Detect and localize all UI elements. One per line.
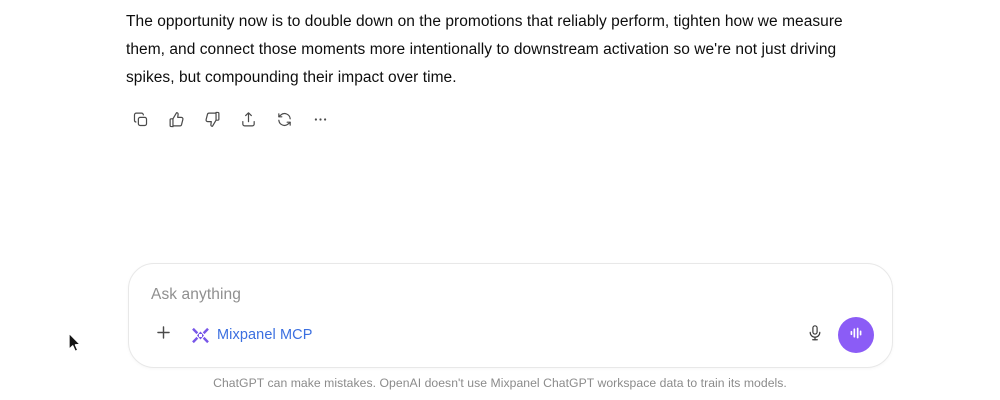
assistant-message-text: The opportunity now is to double down on…	[126, 8, 886, 92]
mixpanel-mcp-chip[interactable]: Mixpanel MCP	[187, 323, 316, 348]
thumbs-up-button[interactable]	[162, 105, 190, 133]
mixpanel-logo-icon	[191, 326, 210, 345]
microphone-icon	[806, 324, 824, 347]
assistant-message: The opportunity now is to double down on…	[126, 8, 886, 92]
copy-button[interactable]	[126, 105, 154, 133]
mixpanel-mcp-label: Mixpanel MCP	[217, 327, 312, 343]
more-options-button[interactable]	[306, 105, 334, 133]
message-composer[interactable]: Ask anything Mixpa	[128, 263, 893, 368]
mouse-cursor	[68, 332, 82, 353]
waveform-icon	[846, 323, 866, 348]
thumbs-down-icon	[204, 111, 221, 128]
regenerate-button[interactable]	[270, 105, 298, 133]
share-button[interactable]	[234, 105, 262, 133]
dictate-button[interactable]	[800, 320, 830, 350]
regenerate-icon	[276, 111, 293, 128]
more-options-icon	[312, 111, 329, 128]
share-icon	[240, 111, 257, 128]
composer-toolbar: Mixpanel MCP	[129, 315, 892, 355]
voice-mode-button[interactable]	[838, 317, 874, 353]
message-actions-toolbar	[126, 105, 334, 133]
composer-input-wrapper[interactable]: Ask anything	[151, 284, 870, 306]
copy-icon	[132, 111, 149, 128]
message-input[interactable]: Ask anything	[151, 284, 870, 306]
thumbs-down-button[interactable]	[198, 105, 226, 133]
disclaimer-text: ChatGPT can make mistakes. OpenAI doesn'…	[0, 376, 1000, 390]
thumbs-up-icon	[168, 111, 185, 128]
add-attachment-button[interactable]	[149, 321, 177, 349]
plus-icon	[154, 323, 173, 347]
